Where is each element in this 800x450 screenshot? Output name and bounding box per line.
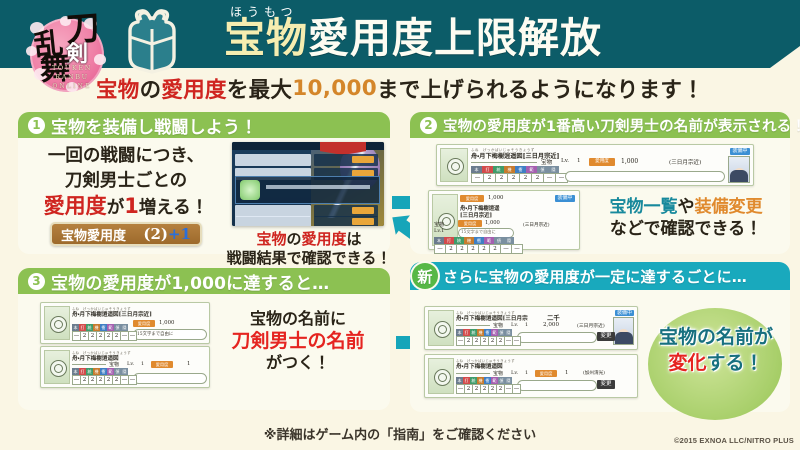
card-lv-label: Lv. — [561, 158, 569, 164]
card-stat-labels: 本 打 統 機 衝 範 偵 隠 — [456, 377, 512, 384]
panel-1-number: 1 — [28, 117, 45, 134]
affection-badge-label: 宝物愛用度 — [61, 225, 126, 244]
card-affection-tag: 愛用度 — [151, 361, 173, 368]
card-thumbnail — [44, 306, 70, 340]
card-stat-labels: 本 打 統 機 衝 範 偵 隠 — [471, 166, 559, 173]
panel-4-caption-line2: 変化する！ — [646, 350, 786, 376]
title-block: ほうもつ 宝物愛用度上限解放 — [200, 4, 790, 66]
card-change-button[interactable]: 変更 — [597, 380, 615, 389]
infographic-root: 刀 乱 剣 舞 TOUKEN RANBU ONLINE ほうもつ 宝物愛用度上限… — [0, 0, 800, 450]
card-equip-badge: 装備中 — [615, 310, 634, 316]
card-stat-values: —22222—— — [456, 384, 521, 394]
card-owner-name: (三日月宗近) — [523, 222, 550, 228]
logo-romaji-line1: TOUKEN — [36, 64, 108, 73]
subtitle-part3: 愛用度 — [161, 73, 226, 104]
screenshot-row — [314, 154, 378, 166]
card-name-input[interactable] — [517, 332, 597, 343]
card-name: 舟・月下梅樹逍遥図[三日月宗近] — [72, 310, 152, 318]
panel-1-line2: 刀剣男士ごとの — [26, 169, 226, 194]
panel-2-caption-line1: 宝物一覧や装備変更 — [588, 196, 784, 218]
treasure-list-card: 愛用度 1,000 装備中 舟・月下梅樹逍遥 [三日月宗近] 宝物 Lv.1 愛… — [428, 190, 580, 250]
screenshot-treasure-orb — [240, 180, 260, 200]
card-lv-label: Lv. — [127, 361, 134, 367]
panel-1-text: 一回の戦闘につき、 刀剣男士ごとの 愛用度が1増える！ — [26, 144, 226, 221]
card-crest-icon — [50, 316, 67, 333]
card-name-input[interactable] — [565, 171, 725, 182]
panel-4-header: 新 さらに宝物の愛用度が一定に達するごとに… — [410, 262, 790, 290]
card-change-button[interactable]: 変更 — [597, 332, 615, 341]
card-affection-value: 1 — [187, 361, 190, 367]
card-owner-name: (三日月宗近) — [669, 158, 701, 166]
card-stat-labels: 本 打 統 機 衝 範 偵 隠 — [72, 324, 128, 331]
card-lv-value: 1 — [525, 322, 528, 328]
screenshot-row — [235, 154, 311, 166]
panel-1-header: 1 宝物を装備し戦闘しよう！ — [18, 112, 390, 138]
card-equip-badge: 装備中 — [730, 148, 750, 155]
card-affection-tag: 愛用度 — [133, 320, 155, 327]
card-stat-labels: 本 打 統 機 衝 範 偵 隠 — [456, 329, 512, 336]
card-stat-labels: 本 打 統 機 衝 範 偵 隠 — [434, 237, 514, 244]
panel-3-caption-line1: 宝物の名前に — [210, 308, 386, 330]
title-highlight: 宝物 — [224, 14, 308, 62]
card-type-label: 宝物 — [493, 370, 503, 377]
card-type-label: 宝物 — [434, 221, 444, 228]
panel-4-title: さらに宝物の愛用度が一定に達するごとに… — [443, 266, 747, 287]
card-affection-value: 1,000 — [159, 320, 174, 326]
title-rest: 愛用度上限解放 — [308, 14, 602, 62]
screenshot-row — [235, 216, 311, 226]
card-affection-value: 1,000 — [488, 195, 503, 201]
panel-2-title: 宝物の愛用度が1番高い刀剣男士の名前が表示される！ — [443, 115, 800, 136]
panel-1-caption-line1: 宝物の愛用度は — [214, 230, 404, 249]
panel-4-caption-line1: 宝物の名前が — [646, 324, 786, 350]
card-equip-badge: 装備中 — [555, 195, 575, 202]
card-affection-value: 1 — [565, 370, 568, 376]
card-affection-tag-2: 愛用度 — [458, 220, 482, 227]
subtitle-part2: の — [140, 73, 162, 104]
card-name: 舟・月下梅樹逍遥図[三日月宗 — [456, 314, 528, 322]
panel-3-header: 3 宝物の愛用度が1,000に達すると… — [18, 268, 390, 294]
logo-romaji: TOUKEN RANBU ONLINE — [36, 64, 108, 91]
treasure-card-base: ふね げっかばいじゅそうきょうず 舟・月下梅樹逍遥図 宝物 Lv. 1 愛用度 … — [424, 354, 638, 398]
panel-1-line3: 愛用度が1増える！ — [26, 194, 226, 221]
page-title: 宝物愛用度上限解放 — [224, 12, 602, 64]
treasure-card-after: ふね げっかばいじゅそうきょうず 舟・月下梅樹逍遥図 宝物 Lv. 1 愛用度 … — [40, 346, 210, 388]
panel-1-caption: 宝物の愛用度は 戦闘結果で確認できる！ — [214, 230, 404, 268]
panel-1-line3-red: 愛用度 — [44, 194, 107, 218]
panel-4-caption-red: 変化 — [668, 352, 706, 374]
card-portrait — [613, 317, 634, 345]
panel-2-caption-teal: 宝物一覧 — [610, 197, 678, 217]
card-lv-value: 1 — [577, 158, 581, 164]
panel-1-caption-end: は — [347, 230, 362, 248]
affection-badge-plus: +1 — [168, 225, 191, 243]
panel-4-body: ふね げっかばいじゅそうきょうず 舟・月下梅樹逍遥図[三日月宗 二千 宝物 Lv… — [410, 288, 790, 412]
panel-3-body: ふね げっかばいじゅそうきょうず 舟・月下梅樹逍遥図[三日月宗近] 愛用度 1,… — [18, 294, 390, 410]
card-thumbnail — [428, 358, 454, 394]
panel-1-caption-red1: 宝物 — [256, 230, 286, 248]
screenshot-center-text — [266, 185, 370, 189]
panel-3-caption: 宝物の名前に 刀剣男士の名前 がつく！ — [210, 308, 386, 374]
panel-1-body: 一回の戦闘につき、 刀剣男士ごとの 愛用度が1増える！ 宝物愛用度 (2)+1 — [18, 138, 390, 254]
card-stat-values: —22222—— — [72, 375, 137, 385]
card-crest-icon — [434, 321, 451, 338]
card-lv-value: 1 — [525, 370, 528, 376]
card-name-input[interactable] — [133, 373, 207, 384]
panel-2-caption-ya: や — [678, 197, 695, 217]
card-thumbnail — [428, 310, 454, 346]
card-name-extra: 二千 — [547, 313, 560, 322]
card-owner-name: (加州清光) — [583, 370, 605, 376]
card-stat-labels: 本 打 統 機 衝 範 偵 隠 — [72, 368, 128, 375]
treasure-card-evolved: ふね げっかばいじゅそうきょうず 舟・月下梅樹逍遥図[三日月宗 二千 宝物 Lv… — [424, 306, 638, 350]
panel-2-caption-org: 装備変更 — [695, 197, 763, 217]
card-affection-tag: 愛用度 — [535, 370, 557, 377]
panel-1-caption-red2: 愛用度 — [302, 230, 347, 248]
card-affection-tag: 愛用度 — [460, 195, 484, 202]
affection-badge-value: (2) — [143, 225, 168, 243]
panel-1-title: 宝物を装備し戦闘しよう！ — [51, 113, 257, 138]
card-name: 舟・月下梅樹逍遥図 — [456, 362, 503, 370]
gift-box-icon — [118, 9, 186, 75]
panel-2-body: ふね げっかばいじゅそうきょうず 舟・月下梅樹逍遥図[三日月宗近] 宝物 Lv.… — [410, 138, 790, 254]
panel-3-caption-line2: 刀剣男士の名前 — [210, 330, 386, 352]
screenshot-center-panel — [235, 176, 380, 204]
card-affection-tag: 愛用度 — [589, 158, 615, 166]
card-type-label: 宝物 — [109, 361, 119, 368]
panel-step-new: 新 さらに宝物の愛用度が一定に達するごとに… ふね げっかばいじゅそうきょうず … — [410, 262, 790, 412]
panel-1-line3-num: 1 — [124, 194, 139, 218]
battle-result-screenshot — [232, 142, 384, 226]
card-thumbnail — [44, 350, 70, 384]
panel-2-header: 2 宝物の愛用度が1番高い刀剣男士の名前が表示される！ — [410, 112, 790, 138]
card-affection-value: 2,000 — [543, 322, 559, 328]
panel-3-caption-line3: がつく！ — [210, 352, 386, 374]
logo-romaji-line3: ONLINE — [36, 82, 108, 91]
panel-1-line3-end: 増える！ — [139, 198, 208, 218]
subtitle: 宝物の愛用度を最大10,000まで上げられるようになります！ — [0, 70, 800, 106]
copyright-text: ©2015 EXNOA LLC/NITRO PLUS — [674, 436, 794, 445]
card-lv-label: Lv. — [511, 322, 518, 328]
card-lv-value: 1 — [141, 361, 144, 367]
panel-1-line3-mid: が — [107, 198, 125, 218]
touken-ranbu-logo: 刀 乱 剣 舞 TOUKEN RANBU ONLINE — [12, 4, 120, 100]
card-type-label: 宝物 — [493, 322, 503, 329]
card-input-hint: 15文字まで自由に — [137, 331, 173, 337]
card-name-input[interactable] — [517, 380, 597, 391]
card-crest-icon — [50, 360, 67, 377]
treasure-detail-card: ふね げっかばいじゅそうきょうず 舟・月下梅樹逍遥図[三日月宗近] 宝物 Lv.… — [436, 144, 754, 186]
panel-2-number: 2 — [420, 117, 437, 134]
new-badge: 新 — [412, 263, 438, 289]
card-input-hint: 15文字まで自由に — [461, 229, 496, 235]
card-affection-value-2: 1,000 — [485, 220, 500, 226]
panel-1-caption-mid: の — [286, 230, 301, 248]
card-lv-label: Lv.1 — [434, 228, 444, 234]
card-crest-icon — [447, 158, 464, 175]
card-stat-values: —22222—— — [434, 244, 523, 254]
card-type-label: 宝物 — [541, 158, 552, 166]
panel-4-caption-end: する！ — [707, 352, 764, 374]
card-owner-name: (三日月宗近) — [577, 322, 605, 329]
panel-1-caption-line2: 戦闘結果で確認できる！ — [214, 249, 404, 268]
subtitle-part5: 10,000 — [292, 76, 377, 101]
subtitle-part4: を最大 — [227, 73, 292, 104]
card-stat-values: —22222—— — [72, 331, 137, 341]
panel-3-title: 宝物の愛用度が1,000に達すると… — [51, 269, 329, 294]
subtitle-part6: まで上げられるようになります！ — [377, 73, 704, 104]
panel-1-line1: 一回の戦闘につき、 — [26, 144, 226, 169]
treasure-card-before: ふね げっかばいじゅそうきょうず 舟・月下梅樹逍遥図[三日月宗近] 愛用度 1,… — [40, 302, 210, 344]
card-name-line2: [三日月宗近] — [460, 211, 492, 219]
panel-2-caption-line2: などで確認できる！ — [588, 218, 784, 240]
panel-step-2: 2 宝物の愛用度が1番高い刀剣男士の名前が表示される！ ふね げっかばいじゅそう… — [410, 112, 790, 254]
panel-2-caption: 宝物一覧や装備変更 などで確認できる！ — [588, 196, 784, 240]
card-stat-values: —22222—— — [471, 173, 568, 183]
card-portrait — [728, 156, 750, 183]
logo-romaji-line2: RANBU — [36, 73, 108, 82]
screenshot-row — [314, 216, 378, 226]
panel-3-number: 3 — [28, 273, 45, 290]
affection-badge-values: (2)+1 — [143, 225, 191, 243]
card-crest-icon — [434, 369, 451, 386]
card-stat-values: —22222—— — [456, 336, 521, 346]
panel-step-1: 1 宝物を装備し戦闘しよう！ 一回の戦闘につき、 刀剣男士ごとの 愛用度が1増え… — [18, 112, 390, 254]
panel-4-caption: 宝物の名前が 変化する！ — [646, 324, 786, 376]
affection-badge: 宝物愛用度 (2)+1 — [50, 222, 202, 246]
card-thumbnail — [440, 148, 468, 182]
card-lv-label: Lv. — [511, 370, 518, 376]
card-affection-value: 1,000 — [621, 158, 638, 165]
panel-step-3: 3 宝物の愛用度が1,000に達すると… ふね げっかばいじゅそうきょうず 舟・… — [18, 268, 390, 410]
